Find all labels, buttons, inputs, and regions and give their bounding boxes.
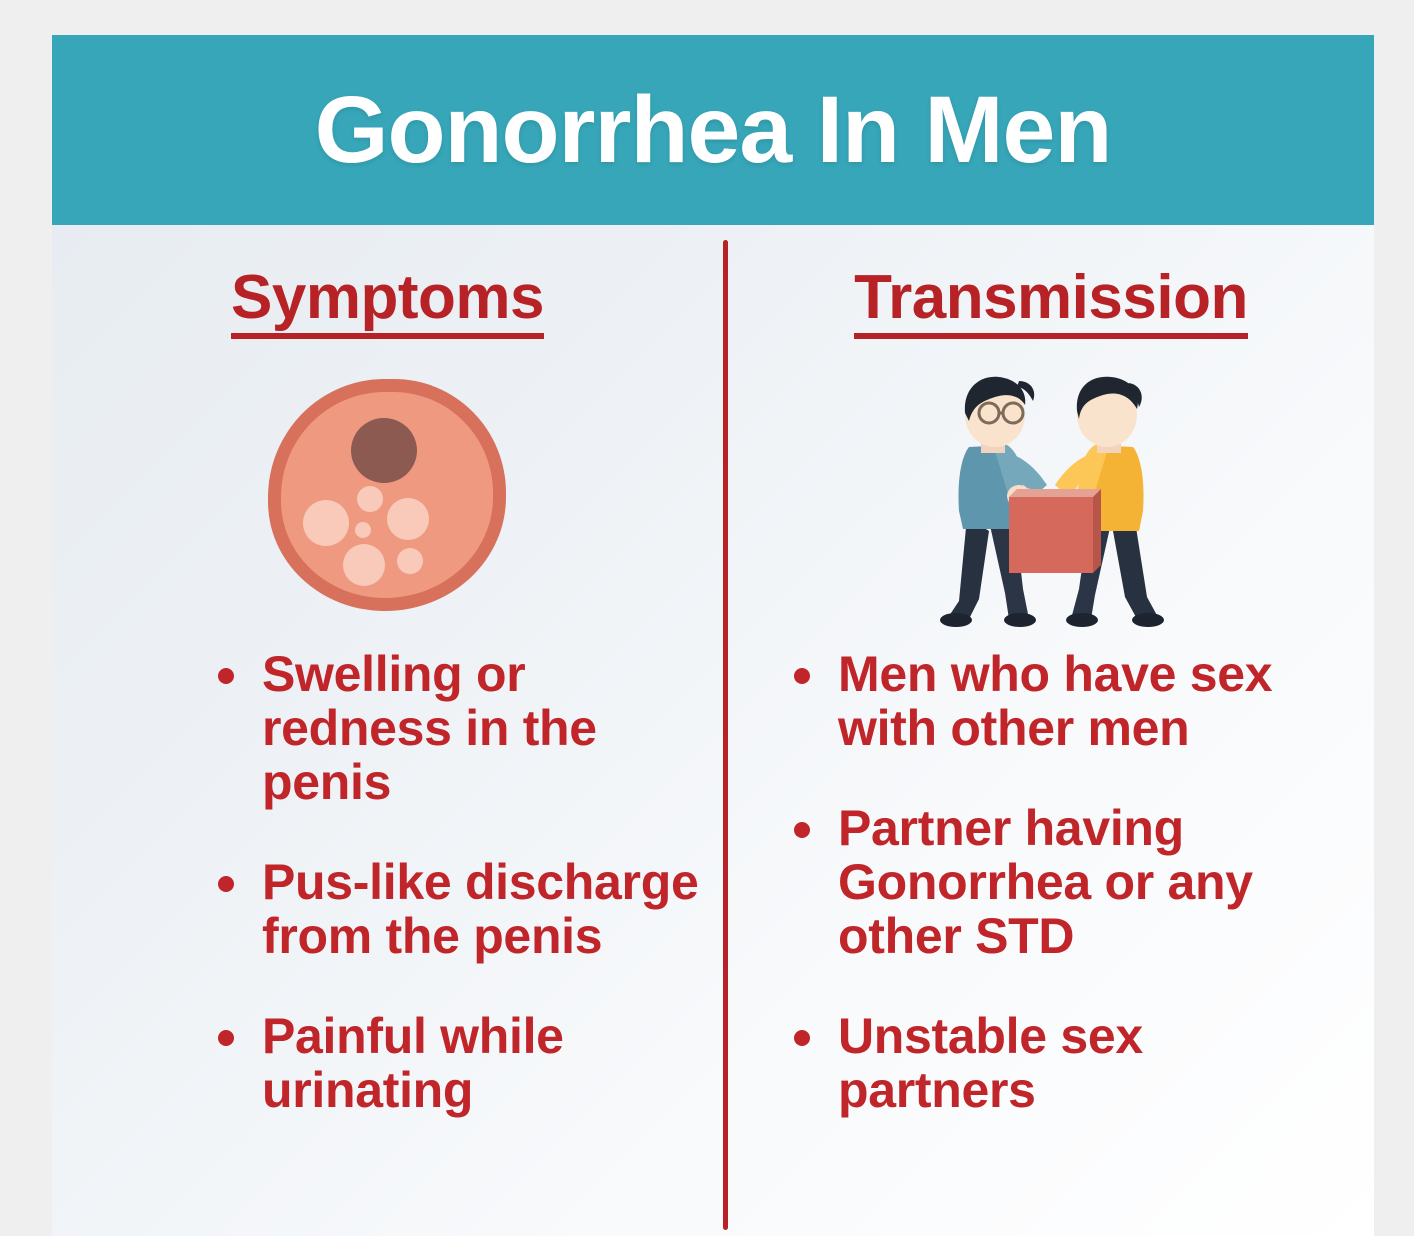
transmission-illustration	[728, 347, 1374, 647]
transmission-list: Men who have sex with other men Partner …	[838, 647, 1328, 1117]
page-title: Gonorrhea In Men	[315, 83, 1112, 178]
bacteria-icon	[243, 361, 533, 633]
two-men-carrying-box-icon	[923, 361, 1179, 633]
bacteria-nucleus	[351, 418, 417, 483]
transmission-column: Transmission	[728, 225, 1374, 1236]
bacteria-cytoplasm	[281, 392, 493, 598]
symptoms-list: Swelling or redness in the penis Pus-lik…	[262, 647, 712, 1117]
title-band: Gonorrhea In Men	[52, 35, 1374, 225]
symptoms-heading-label: Symptoms	[231, 267, 544, 339]
transmission-heading-label: Transmission	[854, 267, 1248, 339]
list-item: Swelling or redness in the penis	[262, 647, 712, 809]
list-item: Unstable sex partners	[838, 1009, 1328, 1117]
transmission-heading: Transmission	[728, 225, 1374, 339]
symptoms-column: Symptoms	[52, 225, 723, 1236]
symptoms-illustration	[52, 347, 723, 647]
infographic-card: Gonorrhea In Men Symptoms	[52, 35, 1374, 1236]
symptoms-heading: Symptoms	[52, 225, 723, 339]
list-item: Painful while urinating	[262, 1009, 712, 1117]
list-item: Men who have sex with other men	[838, 647, 1328, 755]
bacteria-membrane	[268, 379, 506, 611]
list-item: Pus-like discharge from the penis	[262, 855, 712, 963]
list-item: Partner having Gonorrhea or any other ST…	[838, 801, 1328, 963]
content-area: Symptoms	[52, 225, 1374, 1236]
